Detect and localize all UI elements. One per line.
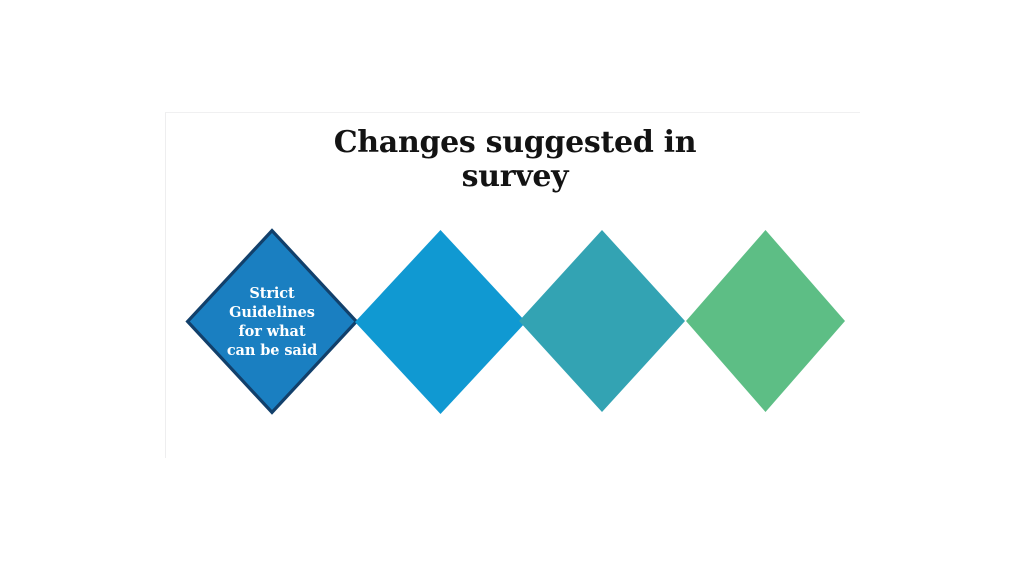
diamond-4-icon bbox=[686, 230, 845, 412]
diamond-diagram: Strict Guidelines for what can be said bbox=[0, 0, 1024, 576]
slide-canvas: Changes suggested in survey Strict Guide… bbox=[0, 0, 1024, 576]
diamond-shape-3[interactable] bbox=[519, 230, 685, 412]
diamond-shape-1[interactable]: Strict Guidelines for what can be said bbox=[186, 229, 358, 414]
diamond-3-icon bbox=[519, 230, 685, 412]
diamond-shape-4[interactable] bbox=[686, 230, 845, 412]
diamond-shape-2[interactable] bbox=[355, 230, 526, 414]
diamond-2-icon bbox=[355, 230, 526, 414]
diamond-1-icon bbox=[186, 229, 358, 414]
